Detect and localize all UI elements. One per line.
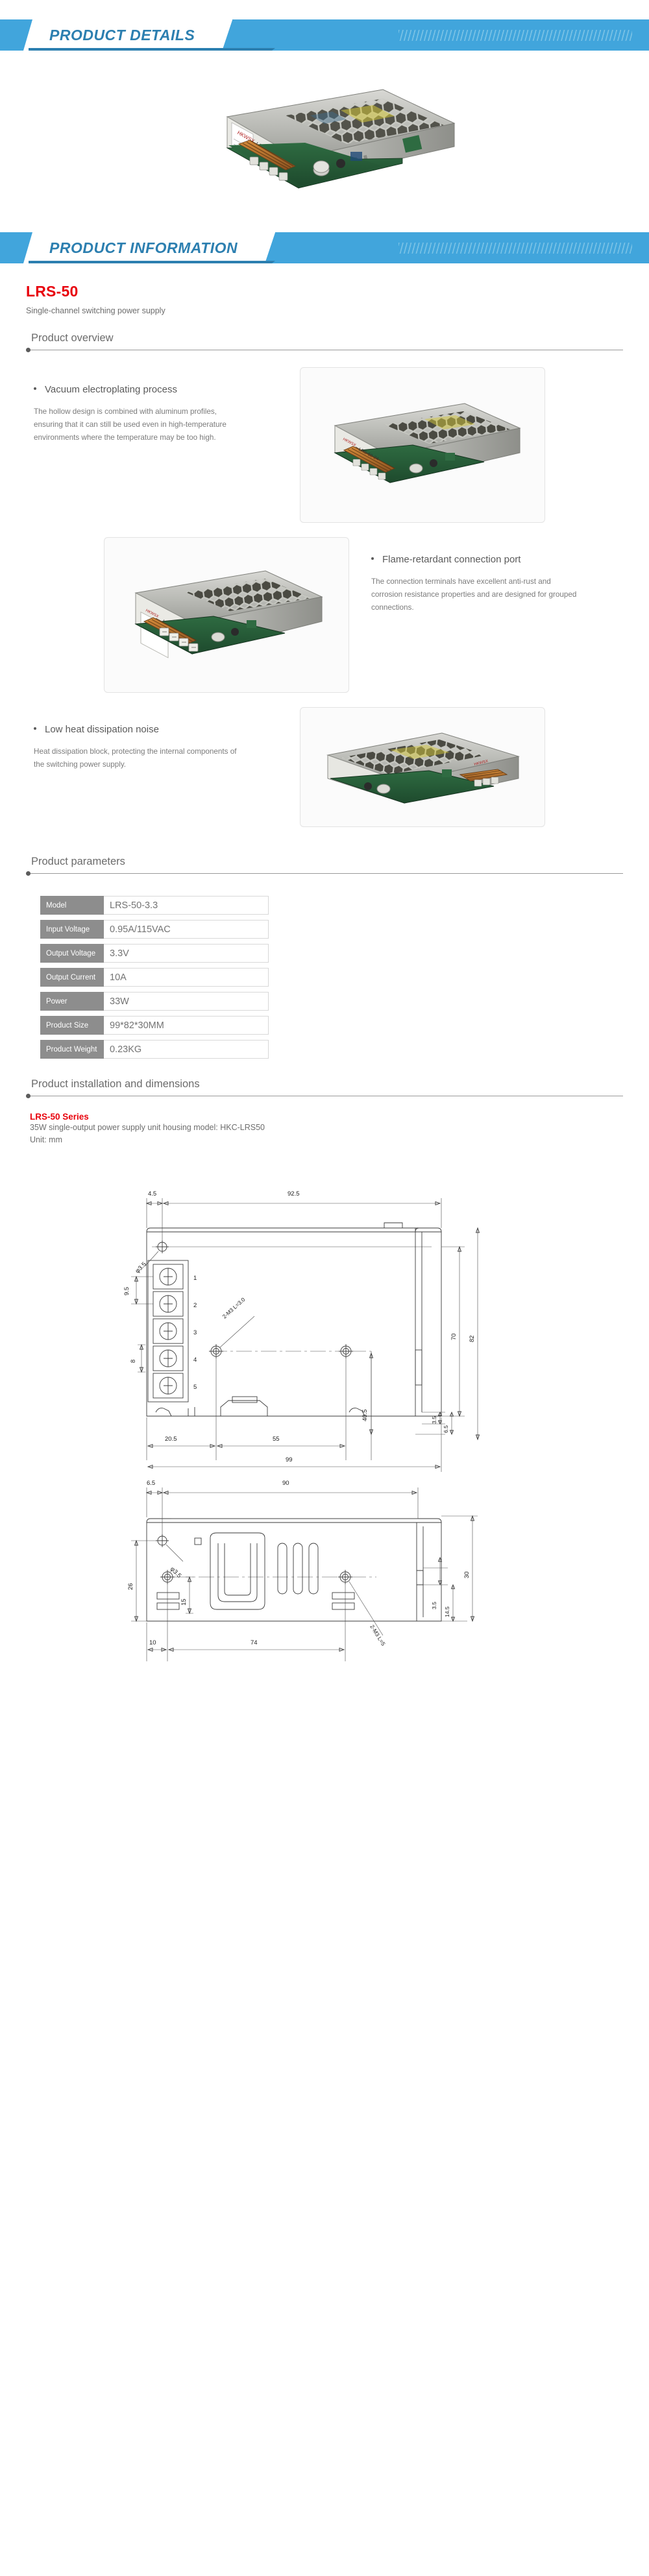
feature-2-text: Flame-retardant connection port The conn…	[363, 537, 623, 614]
param-value: LRS-50-3.3	[104, 896, 269, 915]
dim-14-5: 14.5	[444, 1606, 450, 1617]
feature-3-desc: Heat dissipation block, protecting the i…	[26, 745, 247, 771]
psu-photo-terminals: HKWSX LRS-50-24	[119, 555, 334, 675]
param-value: 33W	[104, 992, 269, 1011]
hero-product-photo: HKWSX LRS-50-24	[0, 51, 649, 206]
param-key: Product Weight	[40, 1040, 104, 1059]
dim-2m3-top: 2-M3 L=3.0	[221, 1295, 247, 1319]
banner-underline-information	[29, 261, 275, 263]
param-value: 10A	[104, 968, 269, 987]
feature-2-desc: The connection terminals have excellent …	[363, 575, 584, 614]
feature-row-3: Low heat dissipation noise Heat dissipat…	[26, 707, 623, 827]
heading-installation-text: Product installation and dimensions	[26, 1078, 623, 1090]
param-value: 0.95A/115VAC	[104, 920, 269, 939]
table-row: Model LRS-50-3.3	[40, 896, 269, 915]
terminal-number-1: 1	[193, 1275, 197, 1282]
dim-4-5: 4.5	[148, 1190, 156, 1198]
param-key: Input Voltage	[40, 920, 104, 939]
param-key: Output Voltage	[40, 944, 104, 963]
table-row: Product Weight 0.23KG	[40, 1040, 269, 1059]
dim-82: 82	[469, 1335, 476, 1342]
dim-phi3-5-side: φ3.5	[169, 1565, 182, 1579]
feature-1-title-wrap: Vacuum electroplating process	[26, 384, 286, 395]
bullet-icon	[34, 387, 36, 390]
dim-3-5-side: 3.5	[431, 1601, 437, 1609]
dim-70: 70	[450, 1333, 458, 1340]
terminal-number-3: 3	[193, 1329, 197, 1336]
dim-6-5-side: 6.5	[147, 1480, 155, 1487]
heading-overview-text: Product overview	[26, 332, 623, 344]
feature-1-title: Vacuum electroplating process	[45, 384, 177, 395]
bullet-icon	[371, 557, 374, 560]
dim-40-5: 40.5	[361, 1409, 369, 1421]
section-heading-overview: Product overview	[26, 332, 623, 353]
psu-photo-heatsink: HKWSX	[312, 719, 533, 816]
dim-74: 74	[251, 1639, 258, 1646]
dimension-drawing: 1 2 3 4 5 φ3.5	[91, 1155, 558, 1674]
terminal-number-5: 5	[193, 1384, 197, 1391]
banner-tab-information: PRODUCT INFORMATION	[23, 232, 275, 263]
heading-rule	[26, 1094, 623, 1099]
param-key: Power	[40, 992, 104, 1011]
table-row: Output Current 10A	[40, 968, 269, 987]
parameters-table: Model LRS-50-3.3 Input Voltage 0.95A/115…	[26, 896, 623, 1059]
dim-99: 99	[286, 1456, 293, 1463]
feature-2-photo: HKWSX LRS-50-24	[104, 537, 349, 693]
param-value: 0.23KG	[104, 1040, 269, 1059]
feature-3-title-wrap: Low heat dissipation noise	[26, 724, 286, 735]
heading-parameters-text: Product parameters	[26, 856, 623, 868]
drawing-top-view: 1 2 3 4 5 φ3.5	[123, 1190, 480, 1472]
banner-hatch-pattern	[398, 30, 632, 41]
section-heading-installation: Product installation and dimensions	[26, 1078, 623, 1099]
product-subtitle: Single-channel switching power supply	[26, 306, 623, 315]
dim-55: 55	[273, 1436, 280, 1443]
feature-3-photo: HKWSX	[300, 707, 545, 827]
feature-3-title: Low heat dissipation noise	[45, 724, 159, 735]
product-details-banner: PRODUCT DETAILS	[0, 19, 649, 51]
dim-15: 15	[180, 1598, 188, 1606]
technical-drawings: 1 2 3 4 5 φ3.5	[26, 1155, 623, 1674]
banner-title-information: PRODUCT INFORMATION	[49, 239, 238, 257]
drawing-side-view: φ3.5 2-M3 L=5	[127, 1480, 478, 1661]
dim-30: 30	[463, 1571, 471, 1578]
heading-rule	[26, 348, 623, 353]
product-name: LRS-50	[26, 283, 623, 300]
param-key: Output Current	[40, 968, 104, 987]
dimension-unit: Unit: mm	[26, 1134, 623, 1146]
banner-hatch-pattern-information	[398, 243, 632, 254]
dim-9-5: 9.5	[123, 1286, 130, 1295]
dim-8: 8	[130, 1359, 137, 1362]
psu-photo-front: HKWSX LRS-50-24	[315, 385, 530, 505]
feature-1-desc: The hollow design is combined with alumi…	[26, 405, 247, 444]
dimension-housing-model: 35W single-output power supply unit hous…	[26, 1122, 623, 1134]
terminal-number-4: 4	[193, 1356, 197, 1364]
dim-92-5: 92.5	[288, 1190, 300, 1198]
table-row: Power 33W	[40, 992, 269, 1011]
param-value: 3.3V	[104, 944, 269, 963]
param-key: Model	[40, 896, 104, 915]
dim-10: 10	[149, 1639, 156, 1646]
table-row: Input Voltage 0.95A/115VAC	[40, 920, 269, 939]
dimension-series-title: LRS-50 Series	[26, 1112, 623, 1122]
feature-row-2: Flame-retardant connection port The conn…	[26, 537, 623, 693]
param-key: Product Size	[40, 1016, 104, 1035]
dim-90: 90	[282, 1480, 289, 1487]
dim-26: 26	[127, 1583, 134, 1590]
param-value: 99*82*30MM	[104, 1016, 269, 1035]
table-row: Product Size 99*82*30MM	[40, 1016, 269, 1035]
feature-2-title-wrap: Flame-retardant connection port	[363, 554, 623, 565]
dim-20-5: 20.5	[165, 1436, 177, 1443]
feature-1-text: Vacuum electroplating process The hollow…	[26, 367, 286, 444]
heading-rule	[26, 871, 623, 876]
banner-underline	[29, 48, 275, 51]
banner-title-details: PRODUCT DETAILS	[49, 27, 195, 44]
psu-photo-hero: HKWSX LRS-50-24	[188, 61, 461, 200]
feature-1-photo: HKWSX LRS-50-24	[300, 367, 545, 523]
section-heading-parameters: Product parameters	[26, 856, 623, 876]
feature-row-1: Vacuum electroplating process The hollow…	[26, 367, 623, 523]
feature-2-title: Flame-retardant connection port	[382, 554, 520, 565]
bullet-icon	[34, 727, 36, 730]
dim-6-5-top: 6.5	[443, 1425, 449, 1432]
feature-3-text: Low heat dissipation noise Heat dissipat…	[26, 707, 286, 771]
banner-tab-details: PRODUCT DETAILS	[23, 19, 232, 51]
dim-3-5-top: 3.5	[431, 1415, 437, 1423]
dim-phi3-5-top: φ3.5	[134, 1260, 147, 1274]
table-row: Output Voltage 3.3V	[40, 944, 269, 963]
product-information-banner: PRODUCT INFORMATION	[0, 232, 649, 263]
terminal-number-2: 2	[193, 1302, 197, 1309]
